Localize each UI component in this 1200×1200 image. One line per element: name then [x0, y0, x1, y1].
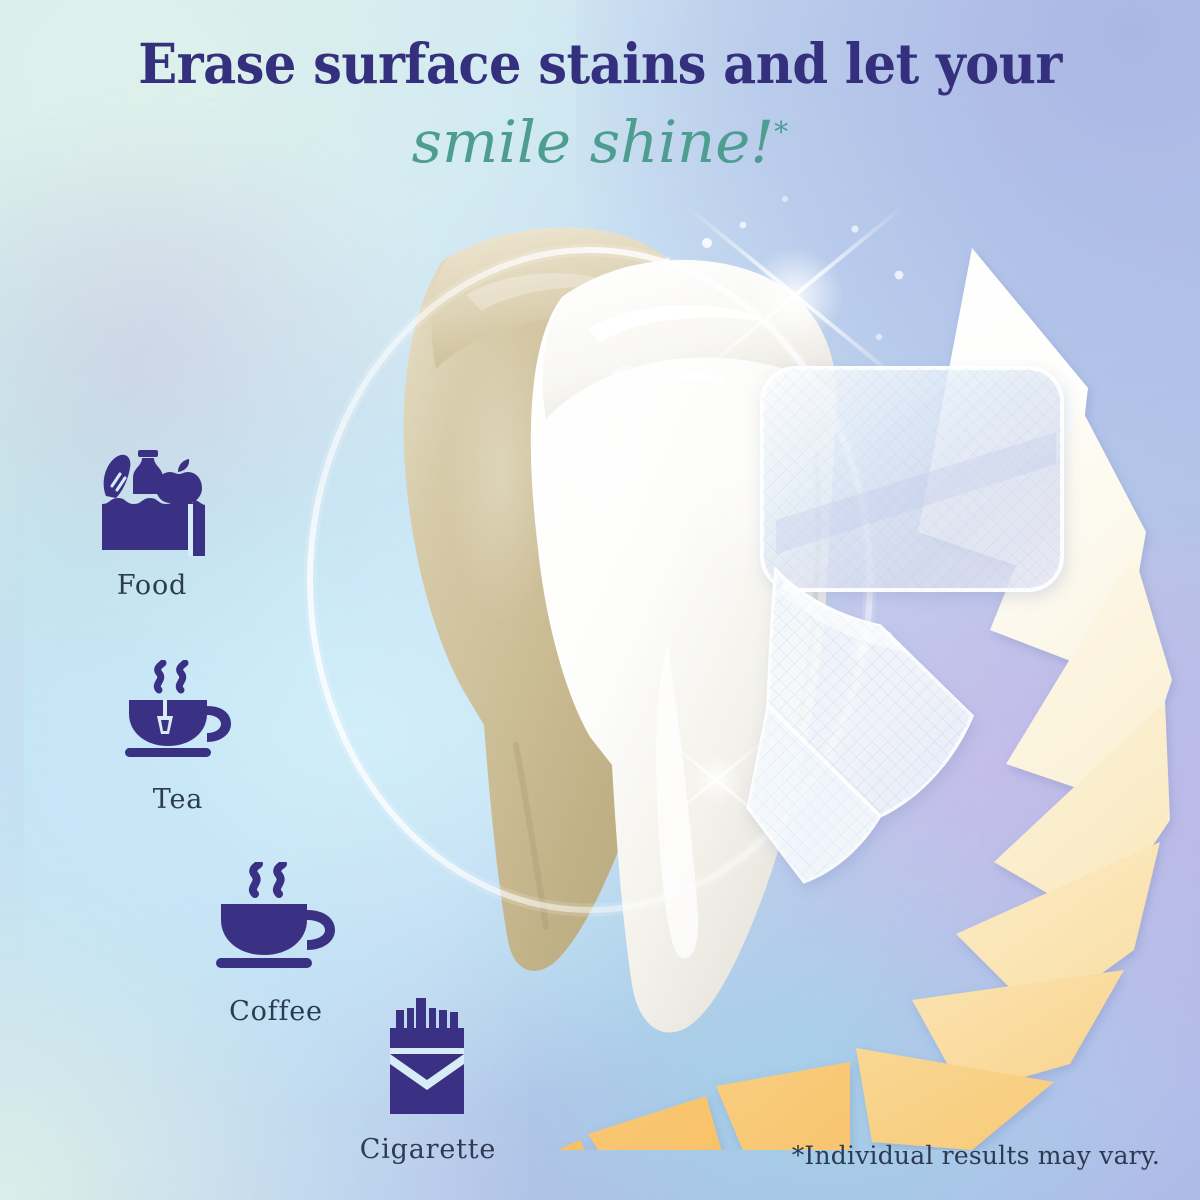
cause-item-tea: Tea	[98, 660, 258, 815]
headline-asterisk: *	[774, 116, 788, 149]
cigarette-pack-icon	[376, 998, 480, 1120]
cause-label-food: Food	[72, 570, 232, 601]
teacup-icon	[119, 660, 237, 770]
grocery-bag-icon	[92, 448, 212, 556]
poster-canvas: Erase surface stains and let your smile …	[0, 0, 1200, 1200]
cause-item-cigarette: Cigarette	[338, 998, 518, 1165]
cause-label-cigarette: Cigarette	[338, 1134, 518, 1165]
headline-block: Erase surface stains and let your smile …	[0, 36, 1200, 176]
headline-primary: Erase surface stains and let your	[42, 36, 1158, 92]
cause-item-food: Food	[72, 448, 232, 601]
coffee-cup-icon	[211, 862, 341, 982]
whitening-strip	[740, 360, 1120, 920]
headline-accent-text: smile shine!	[412, 108, 774, 176]
disclaimer-text: *Individual results may vary.	[792, 1141, 1160, 1170]
cause-label-tea: Tea	[98, 784, 258, 815]
headline-accent: smile shine!*	[0, 108, 1200, 176]
